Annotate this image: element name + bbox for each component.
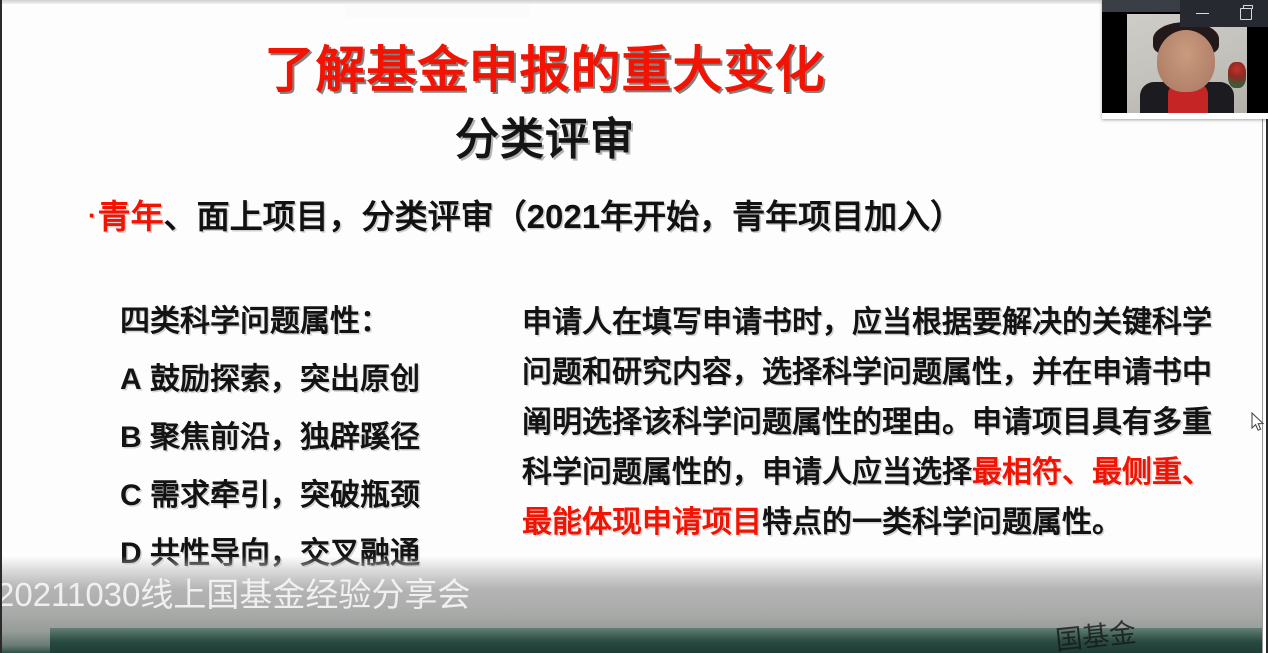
attribute-tag-c: C (120, 479, 146, 513)
attribute-tag-a: A (120, 363, 146, 397)
attribute-tag-b: B (120, 421, 146, 455)
right-column-paragraph: 申请人在填写申请书时，应当根据要解决的关键科学问题和研究内容，选择科学问题属性，… (522, 298, 1212, 548)
attribute-item-c: C需求牵引，突破瓶颈 (120, 470, 500, 514)
attribute-item-a: A鼓励探索，突出原创 (120, 354, 500, 398)
attribute-text-a: 鼓励探索，突出原创 (150, 363, 420, 396)
webcam-letterbox-right (1247, 12, 1268, 113)
screen-root: 了解基金申报的重大变化 分类评审 ·青年、面上项目，分类评审（2021年开始，青… (0, 0, 1268, 653)
webcam-person-face (1157, 30, 1215, 92)
left-column: 四类科学问题属性： A鼓励探索，突出原创 B聚焦前沿，独辟蹊径 C需求牵引，突破… (120, 296, 500, 586)
webcam-letterbox-left (1102, 12, 1127, 113)
minimize-button[interactable] (1180, 0, 1224, 27)
attribute-text-c: 需求牵引，突破瓶颈 (150, 479, 420, 512)
webcam-plant (1228, 62, 1246, 88)
slide-title-main: 了解基金申报的重大变化 (0, 30, 1090, 102)
top-chrome-band (2, 0, 1262, 4)
paragraph-part-two: 特点的一类科学问题属性。 (762, 506, 1122, 539)
attribute-item-b: B聚焦前沿，独辟蹊径 (120, 412, 500, 456)
window-controls (1180, 0, 1268, 27)
attribute-item-d: D共性导向，交叉融通 (120, 528, 500, 572)
window-edge-left (0, 0, 2, 653)
attribute-tag-d: D (120, 537, 146, 571)
presentation-slide: 了解基金申报的重大变化 分类评审 ·青年、面上项目，分类评审（2021年开始，青… (0, 0, 1268, 653)
attribute-text-b: 聚焦前沿，独辟蹊径 (150, 421, 420, 454)
attribute-text-d: 共性导向，交叉融通 (150, 537, 420, 570)
calligraphy-signature: 国基金 (1053, 601, 1227, 653)
bullet-dot-icon: · (88, 200, 97, 230)
minimize-icon (1196, 13, 1209, 15)
slide-title-sub: 分类评审 (0, 103, 1090, 167)
restore-icon (1240, 8, 1252, 20)
restore-button[interactable] (1224, 0, 1268, 27)
bullet-rest-text: 、面上项目，分类评审（2021年开始，青年项目加入） (164, 198, 963, 235)
session-watermark: 20211030线上国基金经验分享会 (0, 568, 470, 616)
bullet-highlight-text: 青年 (98, 198, 164, 235)
top-panel-hint (345, 4, 530, 18)
bullet-line: ·青年、面上项目，分类评审（2021年开始，青年项目加入） (88, 190, 1208, 238)
left-column-heading: 四类科学问题属性： (120, 296, 500, 340)
